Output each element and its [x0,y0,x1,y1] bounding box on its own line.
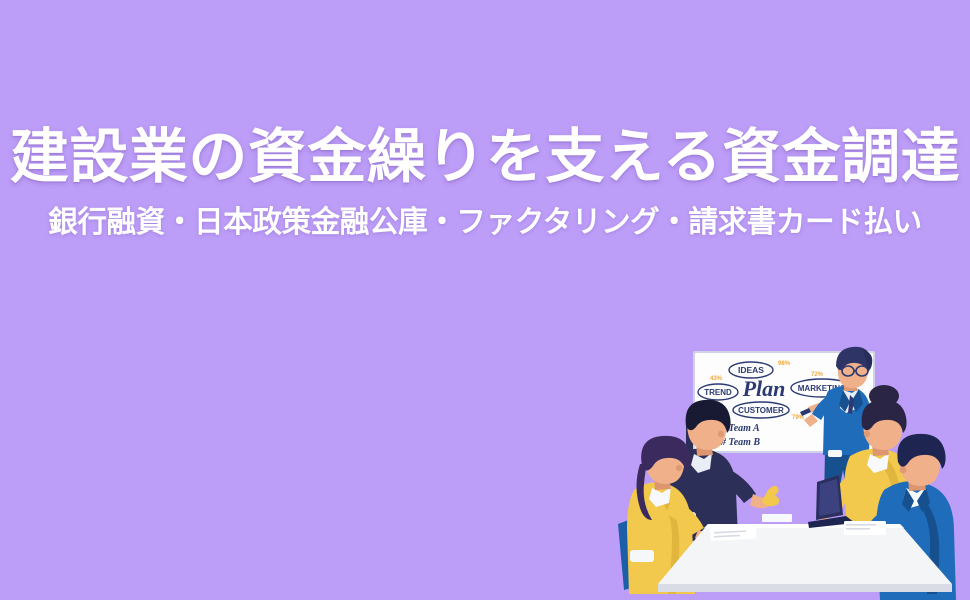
board-bubble-label: TREND [704,388,732,397]
board-bubble-percent: 43% [710,376,723,382]
page-title: 建設業の資金繰りを支える資金調達 [0,122,970,192]
board-bubble-label: CUSTOMER [738,406,784,415]
business-meeting-illustration: Plan IDEAS 98% TREND 43% MARKETING 72% [612,338,970,600]
papers-left [710,526,757,541]
board-list-item: # Team B [720,437,760,448]
banner-root: 建設業の資金繰りを支える資金調達 銀行融資・日本政策金融公庫・ファクタリング・請… [0,0,970,600]
page-subtitle: 銀行融資・日本政策金融公庫・ファクタリング・請求書カード払い [7,203,962,243]
heading-block: 建設業の資金繰りを支える資金調達 銀行融資・日本政策金融公庫・ファクタリング・請… [0,122,970,243]
board-bubble-percent: 98% [778,361,791,367]
conference-table [658,524,952,592]
paper-center [762,514,792,522]
board-bubble-percent: 79% [792,415,805,421]
notepad-right [844,521,886,535]
board-bubble-percent: 72% [811,372,824,378]
board-center-word: Plan [742,376,786,401]
board-bubble-label: IDEAS [738,365,764,375]
